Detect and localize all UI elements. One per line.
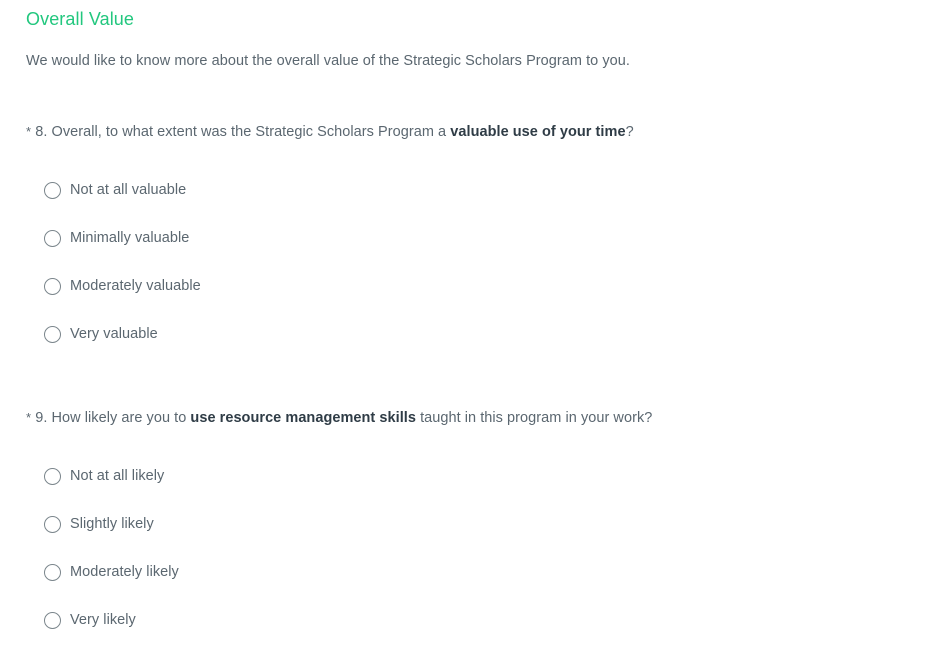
question-text-after: ? <box>626 124 634 140</box>
section-description: We would like to know more about the ove… <box>26 30 904 71</box>
radio-unchecked-icon[interactable] <box>44 278 61 295</box>
radio-option-minimally-valuable[interactable]: Minimally valuable <box>26 227 904 249</box>
option-label: Minimally valuable <box>70 228 189 248</box>
question-number: 9. <box>35 410 47 426</box>
question-text-before: How likely are you to <box>52 410 191 426</box>
option-label: Moderately valuable <box>70 276 201 296</box>
survey-page: Overall Value We would like to know more… <box>0 0 930 631</box>
option-label: Slightly likely <box>70 514 154 534</box>
question-8-options: Not at all valuable Minimally valuable M… <box>26 142 904 345</box>
radio-option-moderately-valuable[interactable]: Moderately valuable <box>26 275 904 297</box>
radio-unchecked-icon[interactable] <box>44 468 61 485</box>
radio-unchecked-icon[interactable] <box>44 564 61 581</box>
option-label: Very valuable <box>70 324 158 344</box>
required-marker: * <box>26 124 31 139</box>
question-block-9: * 9. How likely are you to use resource … <box>26 345 904 631</box>
radio-option-very-likely[interactable]: Very likely <box>26 609 904 631</box>
option-label: Not at all valuable <box>70 180 186 200</box>
question-text-after: taught in this program in your work? <box>416 410 652 426</box>
radio-unchecked-icon[interactable] <box>44 516 61 533</box>
required-marker: * <box>26 410 31 425</box>
radio-option-not-at-all-valuable[interactable]: Not at all valuable <box>26 179 904 201</box>
radio-unchecked-icon[interactable] <box>44 230 61 247</box>
option-label: Not at all likely <box>70 466 164 486</box>
question-emphasis: valuable use of your time <box>450 124 625 140</box>
radio-unchecked-icon[interactable] <box>44 326 61 343</box>
question-9-text: * 9. How likely are you to use resource … <box>26 408 904 428</box>
question-number: 8. <box>35 124 47 140</box>
radio-option-moderately-likely[interactable]: Moderately likely <box>26 561 904 583</box>
radio-option-not-at-all-likely[interactable]: Not at all likely <box>26 465 904 487</box>
question-text-before: Overall, to what extent was the Strategi… <box>52 124 451 140</box>
radio-unchecked-icon[interactable] <box>44 612 61 629</box>
option-label: Moderately likely <box>70 562 179 582</box>
question-block-8: * 8. Overall, to what extent was the Str… <box>26 71 904 345</box>
radio-option-very-valuable[interactable]: Very valuable <box>26 323 904 345</box>
section-title: Overall Value <box>26 0 904 30</box>
radio-option-slightly-likely[interactable]: Slightly likely <box>26 513 904 535</box>
question-9-options: Not at all likely Slightly likely Modera… <box>26 428 904 631</box>
option-label: Very likely <box>70 610 136 630</box>
question-8-text: * 8. Overall, to what extent was the Str… <box>26 122 904 142</box>
question-emphasis: use resource management skills <box>190 410 416 426</box>
radio-unchecked-icon[interactable] <box>44 182 61 199</box>
